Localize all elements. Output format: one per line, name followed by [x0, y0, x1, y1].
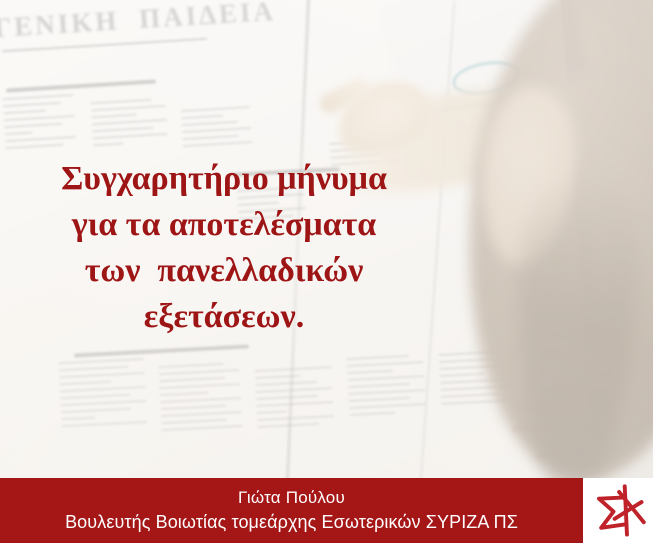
- headline-line-2: για τα αποτελέσματα: [0, 202, 448, 248]
- headline-line-3: των πανελλαδικών: [0, 248, 448, 294]
- headline-line-4: εξετάσεων.: [0, 294, 448, 340]
- syriza-logo-icon: [590, 483, 646, 539]
- poster: ΓΕΝΙΚΗΠΑΙΔΕΙΑ: [0, 0, 653, 543]
- person-role: Βουλευτής Βοιωτίας τομεάρχης Εσωτερικών …: [65, 511, 518, 533]
- bottom-banner: Γιώτα Πούλου Βουλευτής Βοιωτίας τομεάρχη…: [0, 478, 653, 543]
- person-name: Γιώτα Πούλου: [238, 488, 345, 508]
- syriza-logo-box: [583, 478, 653, 543]
- headline-line-1: Συγχαρητήριο μήνυμα: [0, 156, 448, 202]
- banner-text-block: Γιώτα Πούλου Βουλευτής Βοιωτίας τομεάρχη…: [0, 478, 583, 543]
- headline: Συγχαρητήριο μήνυμα για τα αποτελέσματα …: [0, 156, 448, 340]
